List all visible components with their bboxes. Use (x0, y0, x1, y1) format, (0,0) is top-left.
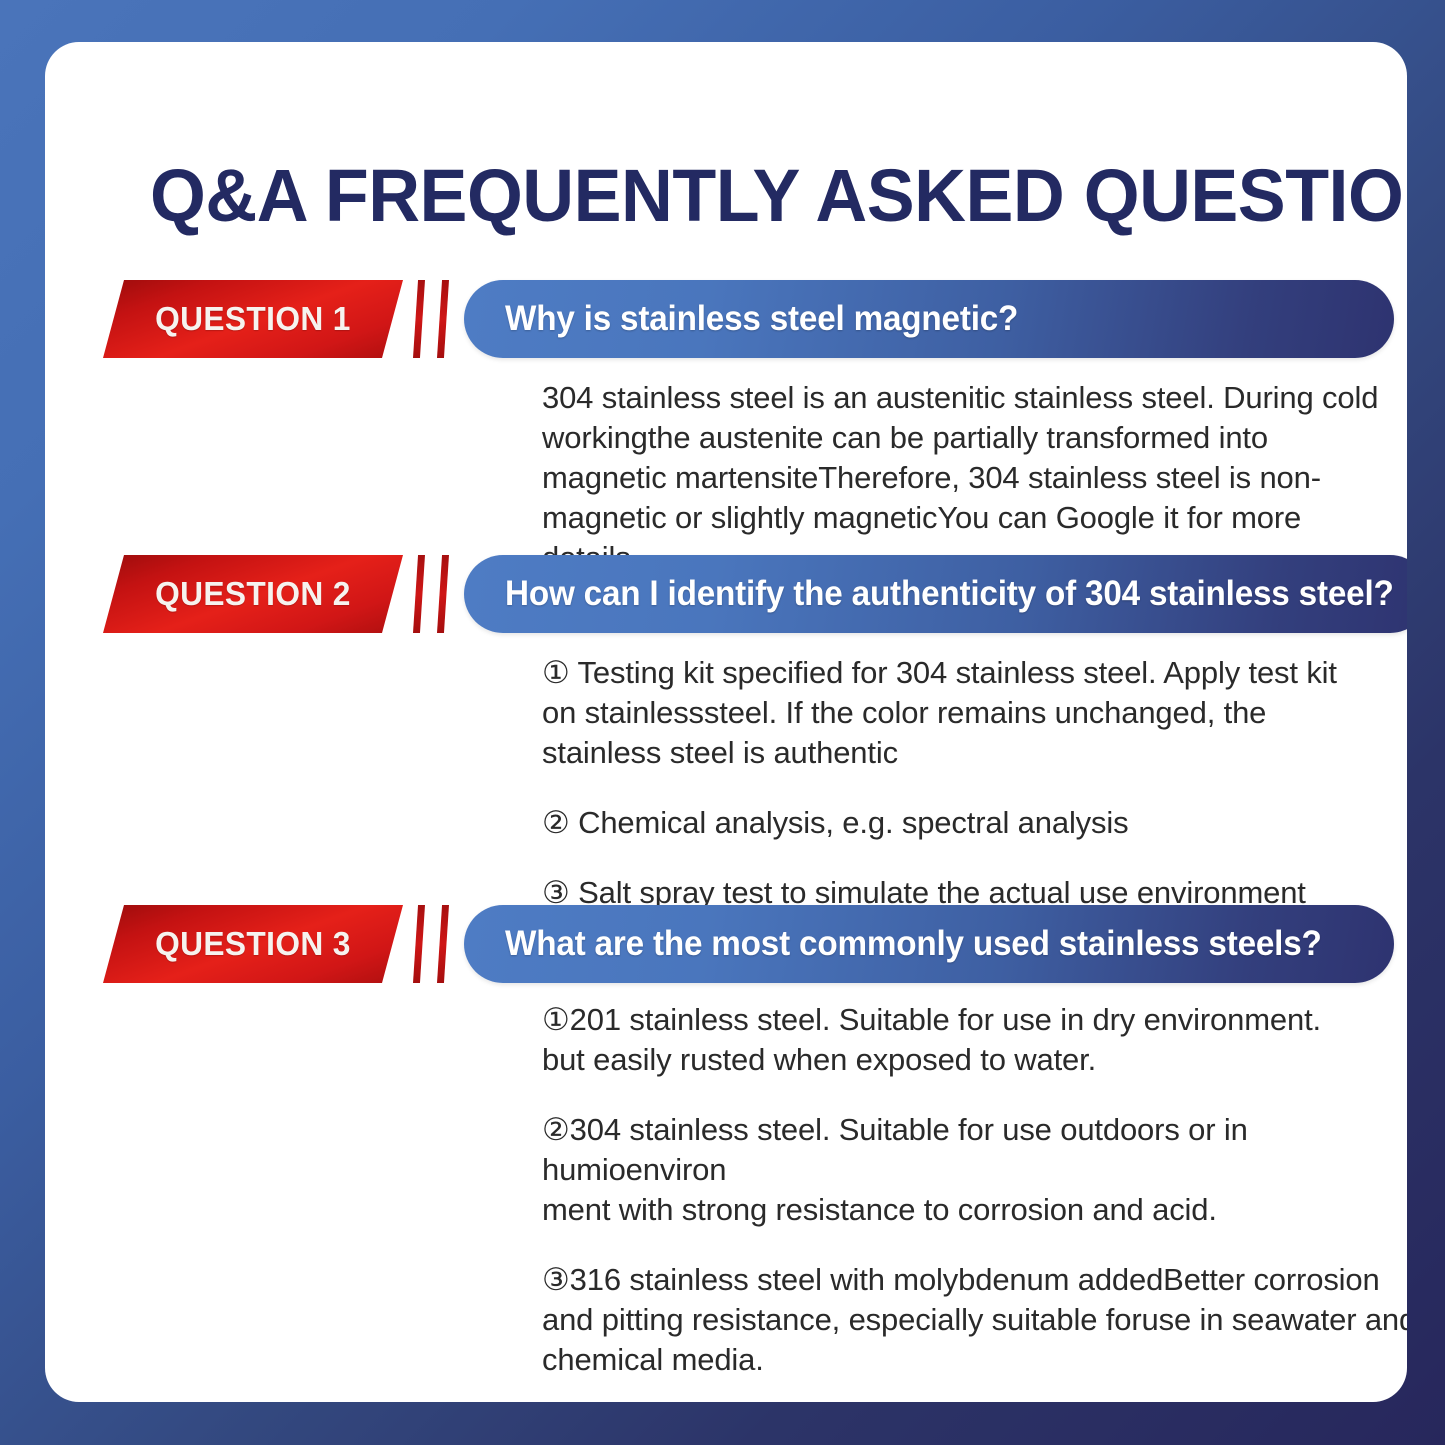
faq-item-2-header: QUESTION 2 How can I identify the authen… (45, 555, 1407, 633)
question-bar-1[interactable]: Why is stainless steel magnetic? (464, 280, 1394, 358)
answer-paragraph: ① Testing kit specified for 304 stainles… (542, 653, 1342, 773)
question-bar-3[interactable]: What are the most commonly used stainles… (464, 905, 1394, 983)
question-badge-3[interactable]: QUESTION 3 (103, 905, 403, 983)
slash-stripe-icon (413, 280, 425, 358)
question-text-3: What are the most commonly used stainles… (505, 924, 1322, 964)
slash-stripe-icon (437, 280, 449, 358)
question-text-1: Why is stainless steel magnetic? (505, 299, 1018, 339)
faq-page: Q&A FREQUENTLY ASKED QUESTIONS QUESTION … (0, 0, 1445, 1445)
page-title: Q&A FREQUENTLY ASKED QUESTIONS (150, 154, 1314, 238)
answer-paragraph: 304 stainless steel is an austenitic sta… (542, 378, 1384, 578)
question-badge-label-1: QUESTION 1 (155, 300, 351, 338)
faq-item-3-header: QUESTION 3 What are the most commonly us… (45, 905, 1407, 983)
question-text-2: How can I identify the authenticity of 3… (505, 574, 1394, 614)
answer-block-2: ① Testing kit specified for 304 stainles… (542, 653, 1342, 913)
answer-paragraph: ②304 stainless steel. Suitable for use o… (542, 1110, 1407, 1230)
answer-block-1: 304 stainless steel is an austenitic sta… (542, 378, 1384, 578)
faq-item-1-header: QUESTION 1 Why is stainless steel magnet… (45, 280, 1407, 358)
slash-stripe-icon (413, 555, 425, 633)
question-bar-2[interactable]: How can I identify the authenticity of 3… (464, 555, 1407, 633)
question-badge-2[interactable]: QUESTION 2 (103, 555, 403, 633)
answer-paragraph: ③316 stainless steel with molybdenum add… (542, 1260, 1407, 1380)
answer-paragraph: ①201 stainless steel. Suitable for use i… (542, 1000, 1407, 1080)
slash-stripe-icon (437, 555, 449, 633)
answer-paragraph: ② Chemical analysis, e.g. spectral analy… (542, 803, 1342, 843)
faq-card: Q&A FREQUENTLY ASKED QUESTIONS QUESTION … (45, 42, 1407, 1402)
question-badge-label-3: QUESTION 3 (155, 925, 351, 963)
slash-stripe-icon (413, 905, 425, 983)
question-badge-label-2: QUESTION 2 (155, 575, 351, 613)
answer-block-3: ①201 stainless steel. Suitable for use i… (542, 1000, 1407, 1402)
slash-stripe-icon (437, 905, 449, 983)
question-badge-1[interactable]: QUESTION 1 (103, 280, 403, 358)
